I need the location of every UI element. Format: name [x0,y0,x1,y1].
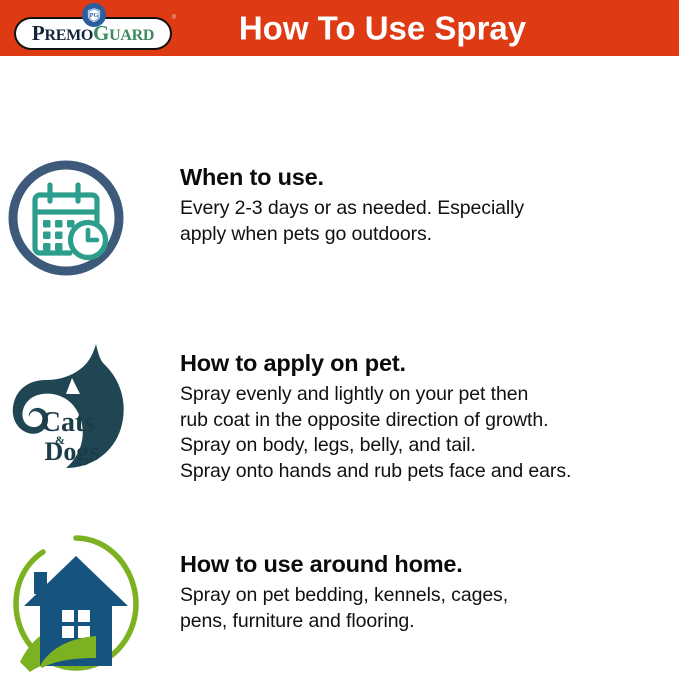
brand-logo[interactable]: PREMOGUARD PG ® [8,3,178,53]
header-banner: How To Use Spray PREMOGUARD PG ® [0,0,679,56]
dogs-label: Dogs [45,437,100,466]
section-apply-heading: How to apply on pet. [180,350,679,377]
section-when-to-use: When to use. Every 2-3 days or as needed… [0,152,679,282]
body-line: pens, furniture and flooring. [180,609,679,635]
section-apply-body: Spray evenly and lightly on your pet the… [180,382,679,485]
section-home-body: Spray on pet bedding, kennels, cages, pe… [180,583,679,634]
cats-and-dogs-icon: Cats & Dogs [0,336,180,476]
logo-premo-rest: REMO [44,27,93,44]
logo-word-guard: GUARD [93,21,154,45]
registered-trademark-mark: ® [172,15,176,21]
section-how-to-apply: Cats & Dogs How to apply on pet. Spray e… [0,336,679,485]
section-when-heading: When to use. [180,164,679,191]
cats-label: Cats [41,407,96,438]
logo-guard-rest: UARD [109,27,154,44]
logo-premo-lead: P [32,21,45,45]
calendar-clock-icon-svg [0,152,132,284]
section-apply-text: How to apply on pet. Spray evenly and li… [180,336,679,485]
calendar-clock-icon [0,152,180,282]
body-line: Spray on body, legs, belly, and tail. [180,433,679,459]
logo-word-premo: PREMO [32,21,93,45]
body-line: Spray onto hands and rub pets face and e… [180,459,679,485]
shield-icon: PG [85,6,103,24]
svg-text:PG: PG [90,12,99,19]
house-icon [0,526,180,678]
section-around-home: How to use around home. Spray on pet bed… [0,526,679,678]
shield-badge-icon: PG [82,3,106,27]
cats-and-dogs-icon-svg: Cats & Dogs [0,336,148,476]
section-home-text: How to use around home. Spray on pet bed… [180,526,679,634]
body-line: apply when pets go outdoors. [180,222,679,248]
body-line: Every 2-3 days or as needed. Especially [180,196,679,222]
section-when-body: Every 2-3 days or as needed. Especially … [180,196,679,247]
house-icon-svg [0,526,152,678]
body-line: Spray evenly and lightly on your pet the… [180,382,679,408]
section-home-heading: How to use around home. [180,551,679,578]
body-line: Spray on pet bedding, kennels, cages, [180,583,679,609]
section-when-text: When to use. Every 2-3 days or as needed… [180,152,679,247]
body-line: rub coat in the opposite direction of gr… [180,408,679,434]
